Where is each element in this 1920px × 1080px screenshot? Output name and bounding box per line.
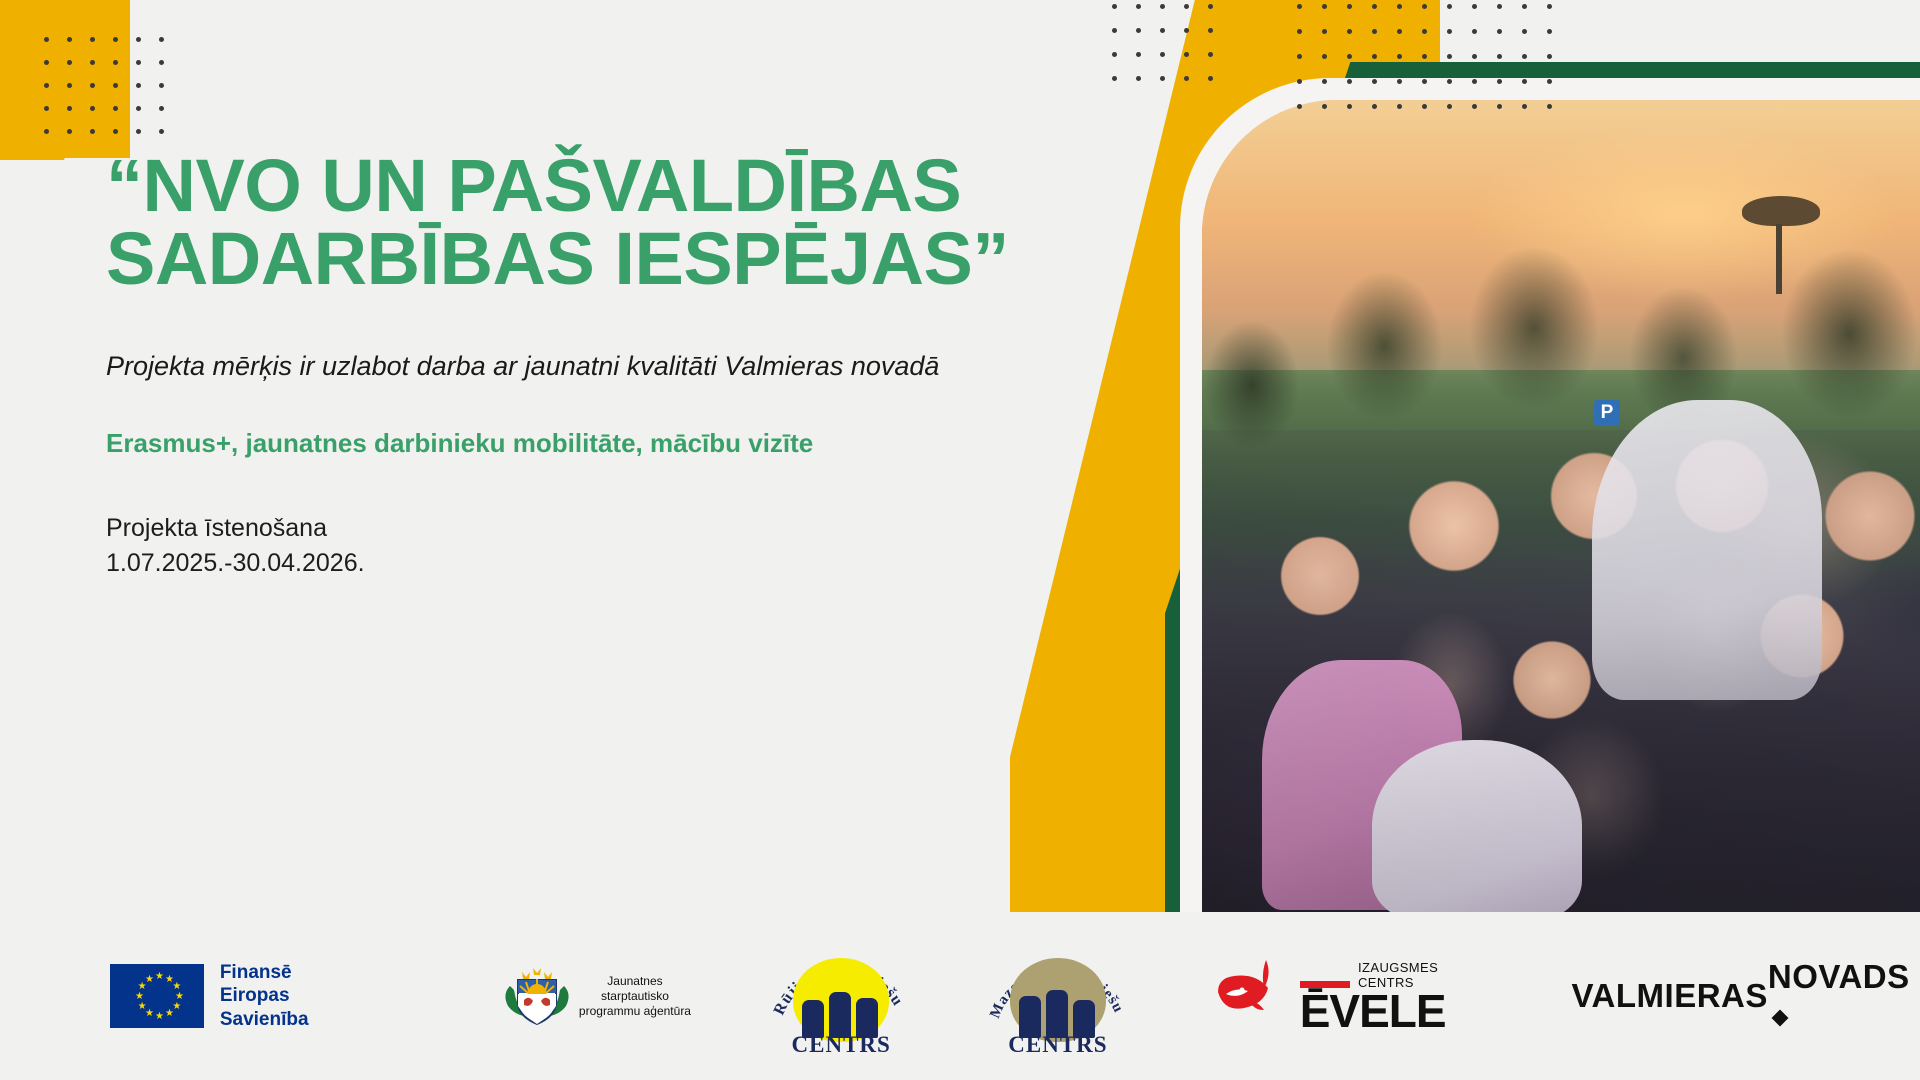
logo-mazsalacas-centrs-label: CENTRS	[983, 1032, 1133, 1058]
dot	[1497, 79, 1502, 84]
eu-star-icon: ★	[165, 1010, 173, 1018]
dot	[1372, 79, 1377, 84]
dot	[1522, 79, 1527, 84]
dot	[1322, 29, 1327, 34]
dot	[136, 106, 141, 111]
dot	[1322, 54, 1327, 59]
dot	[90, 106, 95, 111]
dot	[1112, 52, 1117, 57]
dot	[113, 37, 118, 42]
dot	[1522, 54, 1527, 59]
project-period: Projekta īstenošana 1.07.2025.-30.04.202…	[106, 511, 1126, 580]
top-left-yellow-shape-inner	[0, 0, 130, 158]
dot	[1447, 54, 1452, 59]
dot	[44, 106, 49, 111]
dot	[1472, 4, 1477, 9]
dot	[159, 106, 164, 111]
diamond-icon	[1771, 1010, 1788, 1027]
dot	[1497, 54, 1502, 59]
dot	[1208, 4, 1213, 9]
dot	[1422, 29, 1427, 34]
dot	[136, 37, 141, 42]
dot	[1372, 29, 1377, 34]
dot	[1397, 29, 1402, 34]
dot	[44, 129, 49, 134]
dot	[1208, 52, 1213, 57]
logo-rujienas-jauniesu-centrs: Rūjienas Jauniešu CENTRS	[766, 936, 913, 1056]
dot	[1497, 29, 1502, 34]
eu-star-icon: ★	[135, 993, 143, 1001]
dot	[1547, 54, 1552, 59]
dot	[1497, 4, 1502, 9]
dot	[1347, 54, 1352, 59]
dot	[1422, 54, 1427, 59]
logo-mazsalacas-jauniesu-centrs: Mazsalacas Jauniešu CENTRS	[983, 936, 1130, 1056]
logo-eu-funding-label: Finansē Eiropas Savienība	[220, 961, 380, 1031]
dot	[1397, 104, 1402, 109]
dot	[67, 106, 72, 111]
dot	[136, 83, 141, 88]
dot	[1184, 76, 1189, 81]
dot	[44, 83, 49, 88]
eu-star-icon: ★	[155, 1013, 163, 1021]
dot	[1347, 29, 1352, 34]
dot	[113, 60, 118, 65]
raised-hands-icon	[802, 986, 882, 1038]
dot	[1347, 4, 1352, 9]
logo-valmieras-line2-wrap: NOVADS	[1768, 958, 1920, 1033]
dot	[1112, 28, 1117, 33]
dot	[1297, 4, 1302, 9]
dot	[1397, 4, 1402, 9]
dot	[1136, 4, 1141, 9]
dot	[1297, 54, 1302, 59]
dot	[1522, 4, 1527, 9]
dot	[1208, 76, 1213, 81]
dot	[90, 60, 95, 65]
dot	[1547, 29, 1552, 34]
dot	[1422, 79, 1427, 84]
dot	[1112, 4, 1117, 9]
logo-valmieras-line2: NOVADS	[1768, 958, 1910, 995]
dot	[1322, 4, 1327, 9]
programme-label: Erasmus+, jaunatnes darbinieku mobilitāt…	[106, 428, 1126, 459]
dot	[159, 60, 164, 65]
dot	[1297, 104, 1302, 109]
raised-hands-icon	[1019, 986, 1099, 1038]
dot	[1184, 4, 1189, 9]
dot	[136, 60, 141, 65]
logo-evele: IZAUGSMES CENTRS ĒVELE	[1210, 958, 1494, 1034]
project-subtitle: Projekta mērķis ir uzlabot darba ar jaun…	[106, 351, 1126, 382]
latvia-coat-of-arms-icon	[500, 960, 574, 1026]
dot	[1472, 79, 1477, 84]
dot	[1208, 28, 1213, 33]
dot	[67, 129, 72, 134]
dot	[1422, 4, 1427, 9]
dot	[1447, 4, 1452, 9]
text-content: “NVO UN PAŠVALDĪBAS SADARBĪBAS IESPĒJAS”…	[106, 150, 1126, 580]
dot	[159, 37, 164, 42]
logo-valmieras-line1: VALMIERAS	[1571, 977, 1767, 1015]
dot	[1547, 104, 1552, 109]
dot	[1522, 29, 1527, 34]
eu-star-icon: ★	[175, 993, 183, 1001]
dot	[1160, 76, 1165, 81]
logo-evele-label: ĒVELE	[1300, 990, 1494, 1032]
logo-jspa: Jaunatnes starptautisko programmu aģentū…	[500, 960, 696, 1032]
dot	[1297, 79, 1302, 84]
photo-vignette	[1202, 100, 1920, 912]
dot	[67, 83, 72, 88]
dot	[1472, 54, 1477, 59]
dot	[113, 129, 118, 134]
dot	[1397, 79, 1402, 84]
dot	[136, 129, 141, 134]
eu-flag-icon: ★★★★★★★★★★★★	[110, 964, 204, 1028]
dot	[1136, 52, 1141, 57]
dot	[1372, 4, 1377, 9]
dot	[1322, 104, 1327, 109]
dot	[1160, 28, 1165, 33]
dot	[1447, 29, 1452, 34]
dot	[1347, 104, 1352, 109]
main-area: P “NVO UN PAŠVALDĪBAS SADARBĪBAS IESPĒJA…	[0, 0, 1920, 912]
dot	[113, 83, 118, 88]
eu-star-icon: ★	[172, 983, 180, 991]
dot	[1447, 104, 1452, 109]
dot	[1136, 28, 1141, 33]
dot	[1547, 79, 1552, 84]
dot	[1160, 4, 1165, 9]
eu-star-icon: ★	[138, 1003, 146, 1011]
dot	[67, 37, 72, 42]
dot	[1297, 29, 1302, 34]
dot	[1184, 28, 1189, 33]
dot	[90, 37, 95, 42]
dot	[44, 37, 49, 42]
dot	[1497, 104, 1502, 109]
dot	[1397, 54, 1402, 59]
dot	[1136, 76, 1141, 81]
red-bird-icon	[1210, 958, 1296, 1034]
footer-logo-bar: ★★★★★★★★★★★★ Finansē Eiropas Savienība	[0, 912, 1920, 1080]
eu-star-icon: ★	[155, 973, 163, 981]
dot	[1447, 79, 1452, 84]
hero-photo: P	[1202, 100, 1920, 912]
dot	[1322, 79, 1327, 84]
dot	[113, 106, 118, 111]
logo-valmieras-novads: VALMIERAS NOVADS	[1571, 958, 1919, 1033]
eu-star-icon: ★	[145, 976, 153, 984]
logo-jspa-label: Jaunatnes starptautisko programmu aģentū…	[574, 974, 696, 1019]
dot	[1347, 79, 1352, 84]
dot	[1472, 29, 1477, 34]
dot	[1184, 52, 1189, 57]
dot	[1422, 104, 1427, 109]
dot	[44, 60, 49, 65]
logo-eu-funding: ★★★★★★★★★★★★ Finansē Eiropas Savienība	[110, 961, 380, 1031]
dot	[159, 83, 164, 88]
dot	[1372, 54, 1377, 59]
dot	[90, 129, 95, 134]
dot	[1372, 104, 1377, 109]
dot	[67, 60, 72, 65]
dot	[1112, 76, 1117, 81]
dot	[1160, 52, 1165, 57]
page-title: “NVO UN PAŠVALDĪBAS SADARBĪBAS IESPĒJAS”	[106, 150, 1126, 295]
dot	[1522, 104, 1527, 109]
poster-canvas: P “NVO UN PAŠVALDĪBAS SADARBĪBAS IESPĒJA…	[0, 0, 1920, 1080]
logo-rujienas-centrs-label: CENTRS	[766, 1032, 916, 1058]
dot	[1547, 4, 1552, 9]
dot	[159, 129, 164, 134]
dot	[1472, 104, 1477, 109]
dot	[90, 83, 95, 88]
